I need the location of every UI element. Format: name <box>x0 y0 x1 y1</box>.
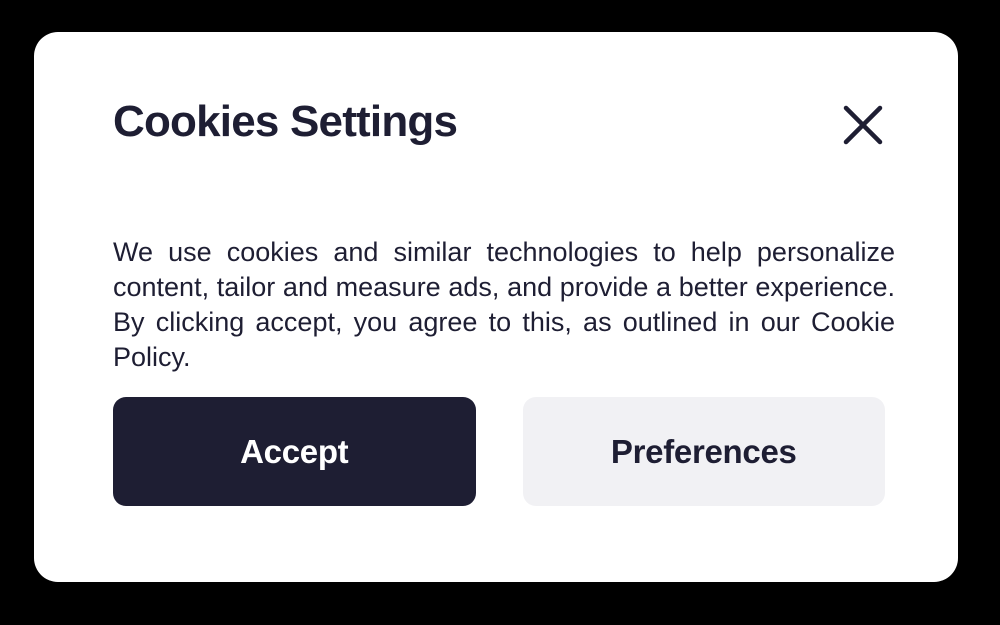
dialog-title: Cookies Settings <box>113 100 457 144</box>
dialog-actions: Accept Preferences <box>113 397 885 506</box>
close-button[interactable] <box>841 103 885 147</box>
preferences-button[interactable]: Preferences <box>523 397 886 506</box>
screen: Cookies Settings We use cookies and simi… <box>0 0 1000 625</box>
dialog-description: We use cookies and similar technologies … <box>113 235 895 375</box>
accept-button[interactable]: Accept <box>113 397 476 506</box>
close-icon <box>843 105 883 145</box>
dialog-header: Cookies Settings <box>113 100 883 147</box>
cookies-settings-dialog: Cookies Settings We use cookies and simi… <box>34 32 958 582</box>
